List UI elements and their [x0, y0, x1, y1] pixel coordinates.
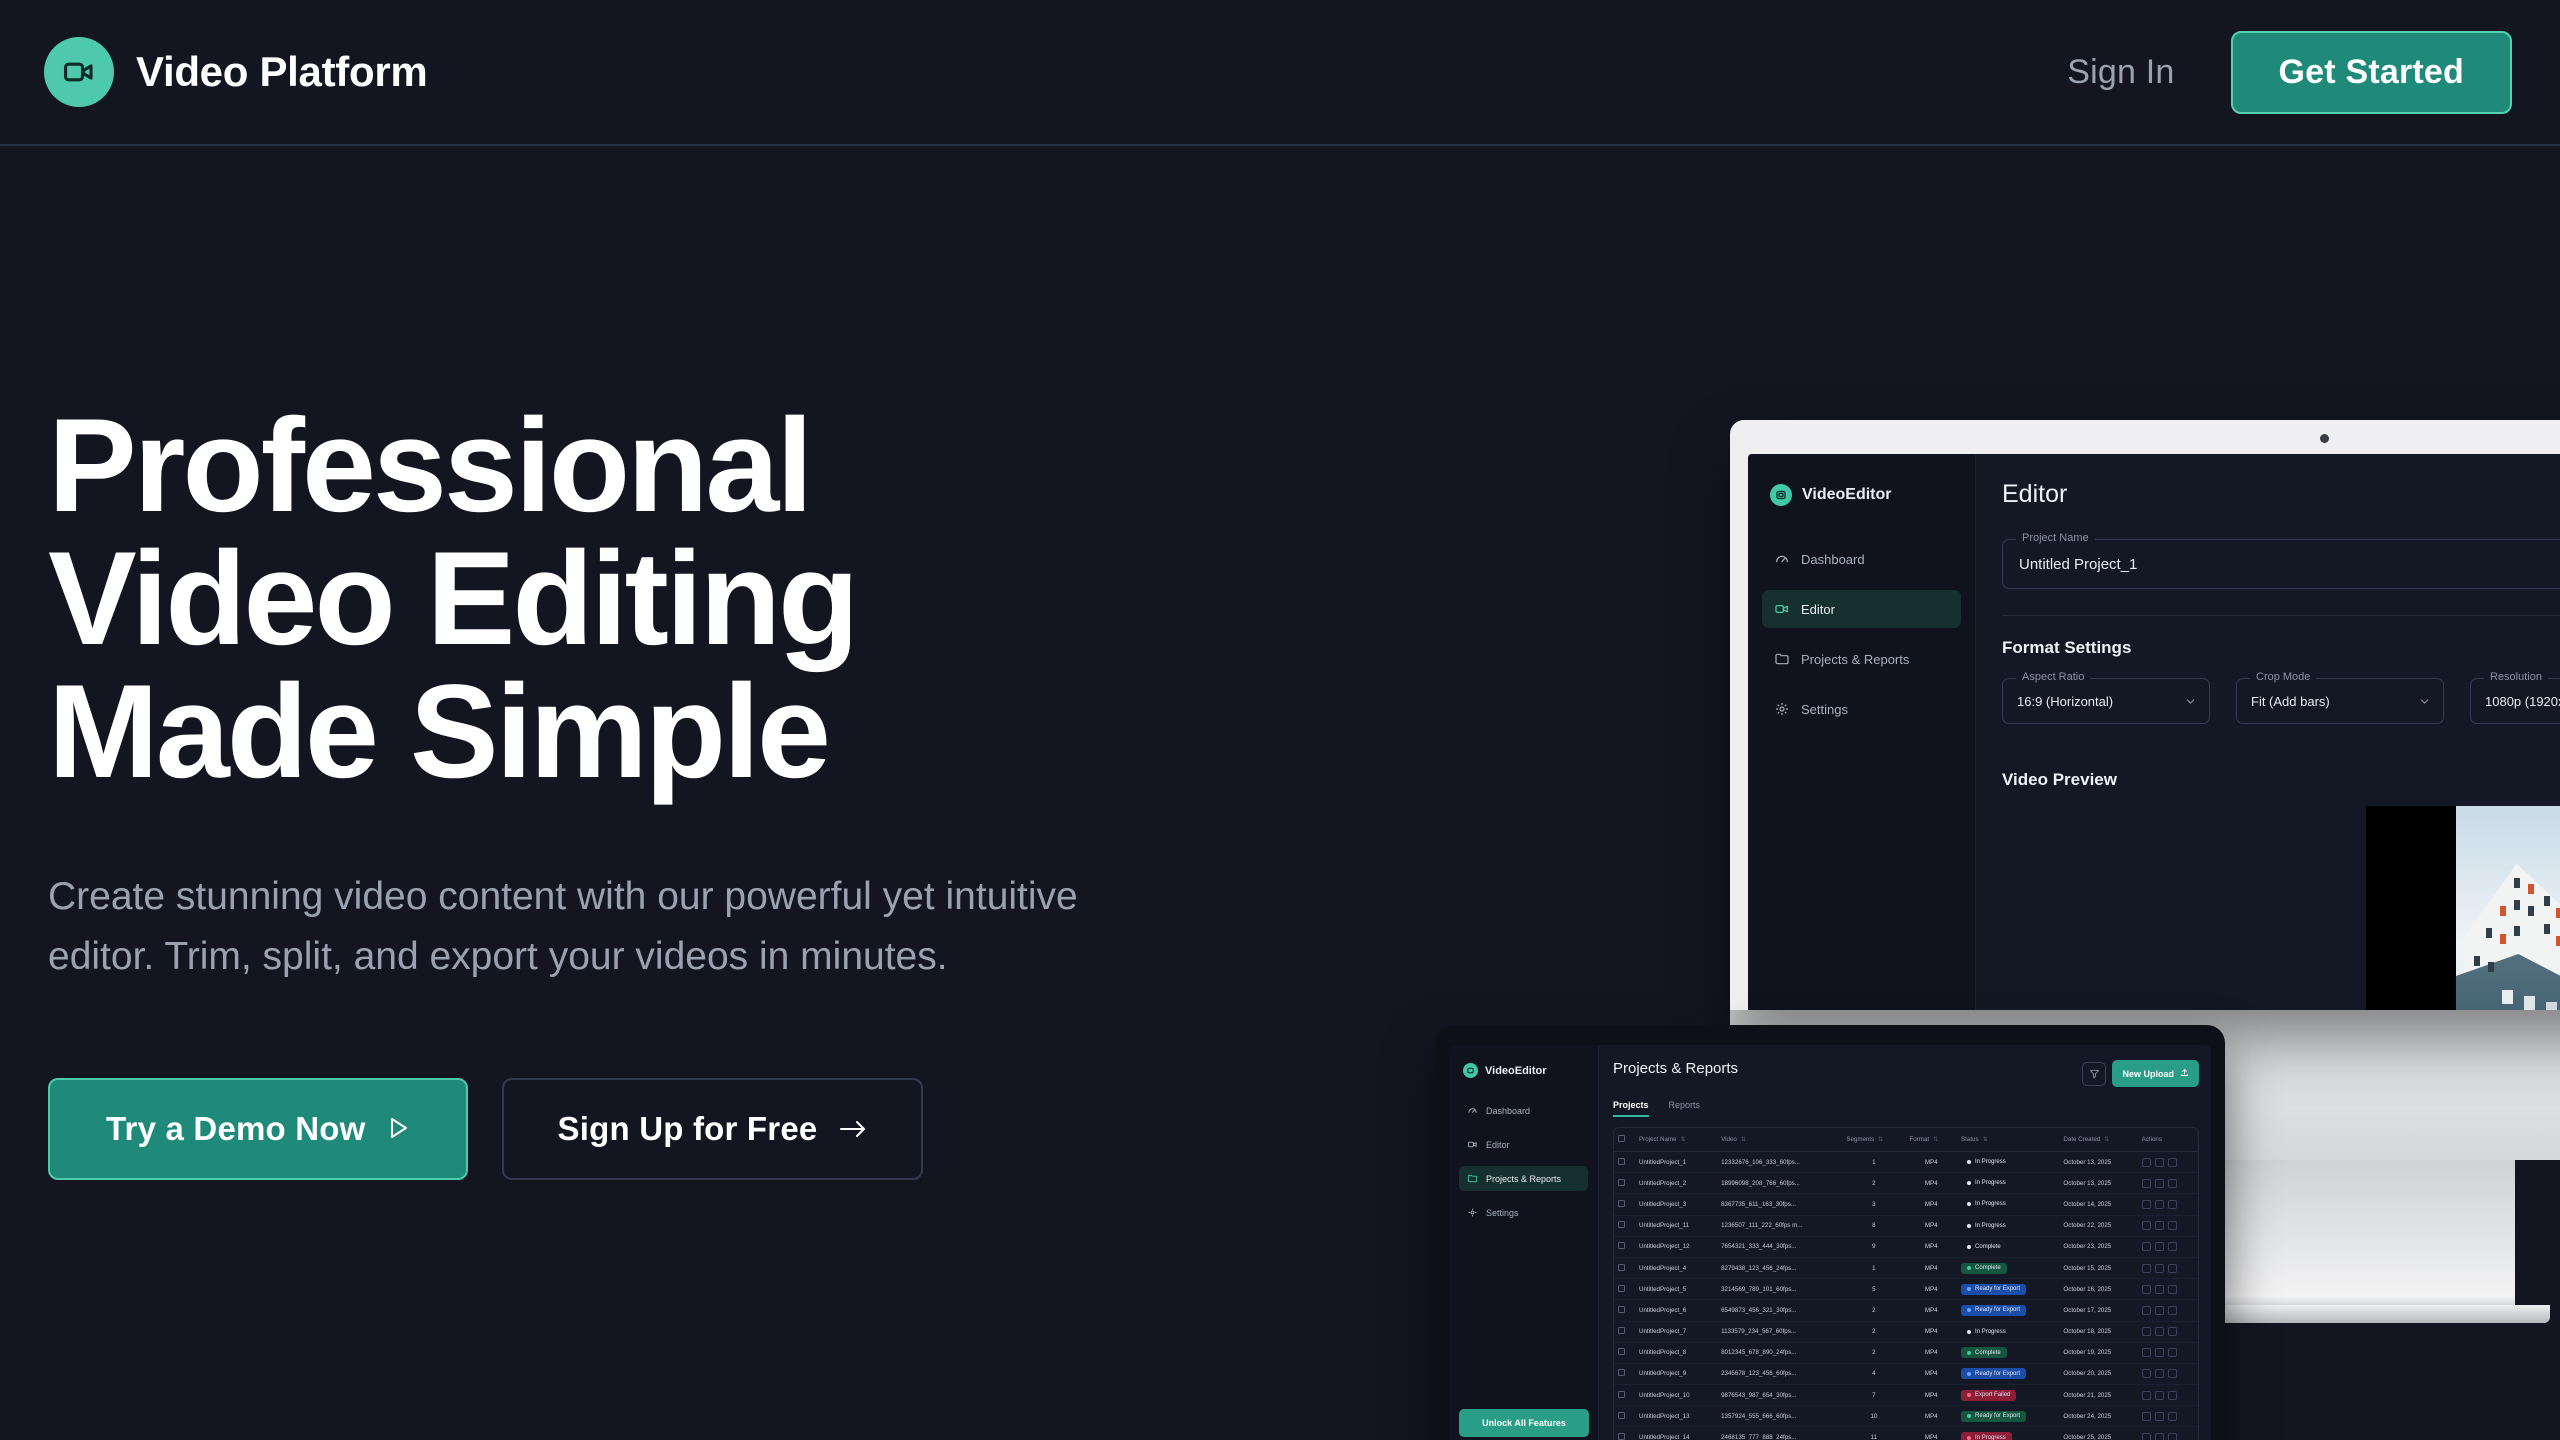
sidebar-item-settings[interactable]: Settings — [1459, 1200, 1588, 1225]
cell-actions — [2138, 1427, 2198, 1440]
col-status[interactable]: Status⇅ — [1957, 1128, 2059, 1152]
edit-icon[interactable] — [2142, 1348, 2151, 1357]
laptop-notch — [1790, 1025, 1870, 1043]
folder-icon — [1467, 1173, 1478, 1184]
resolution-label: Resolution — [2484, 671, 2548, 683]
table-row[interactable]: UntitledProject_218996098_208_766_60fps.… — [1614, 1173, 2198, 1194]
cell-actions — [2138, 1194, 2198, 1215]
table-row[interactable]: UntitledProject_109876543_987_654_30fps.… — [1614, 1385, 2198, 1406]
cell-status: In Progress — [1957, 1427, 2059, 1440]
checkbox-icon[interactable] — [1618, 1135, 1625, 1142]
sign-up-button[interactable]: Sign Up for Free — [502, 1078, 924, 1180]
edit-icon[interactable] — [2142, 1412, 2151, 1421]
sidebar-label: Settings — [1486, 1208, 1519, 1218]
device-mockup-stage: VideoEditor Dashboard Editor — [1350, 380, 2560, 1210]
cell-project-name: UntitledProject_6 — [1635, 1300, 1717, 1321]
cell-format: MP4 — [1905, 1173, 1957, 1194]
checkbox-icon[interactable] — [1618, 1412, 1625, 1419]
cell-video: 2468135_777_888_24fps... — [1717, 1427, 1842, 1440]
cell-project-name: UntitledProject_1 — [1635, 1152, 1717, 1173]
cell-video: 2345678_123_456_60fps... — [1717, 1363, 1842, 1384]
cell-actions — [2138, 1215, 2198, 1236]
divider — [2002, 615, 2560, 616]
laptop-device: VideoEditor Dashboard Editor Projects & … — [1435, 1025, 2245, 1440]
cell-project-name: UntitledProject_8 — [1635, 1342, 1717, 1363]
crop-mode-value: Fit (Add bars) — [2251, 694, 2330, 709]
download-icon[interactable] — [2155, 1242, 2164, 1251]
projects-table: Project Name⇅ Video⇅ Segments⇅ Format⇅ S… — [1614, 1128, 2198, 1440]
editor-sidebar: VideoEditor Dashboard Editor — [1748, 454, 1976, 1010]
row-checkbox[interactable] — [1614, 1300, 1635, 1321]
try-demo-label: Try a Demo Now — [106, 1110, 366, 1148]
status-badge: In Progress — [1961, 1199, 2012, 1210]
aspect-ratio-label: Aspect Ratio — [2016, 671, 2090, 683]
status-badge: In Progress — [1961, 1220, 2012, 1231]
download-icon[interactable] — [2155, 1285, 2164, 1294]
sidebar-item-settings[interactable]: Settings — [1762, 690, 1961, 728]
download-icon[interactable] — [2155, 1327, 2164, 1336]
cell-actions — [2138, 1321, 2198, 1342]
cell-video: 1357924_555_666_60fps... — [1717, 1406, 1842, 1427]
row-checkbox[interactable] — [1614, 1363, 1635, 1384]
edit-icon[interactable] — [2142, 1179, 2151, 1188]
status-badge: In Progress — [1961, 1178, 2012, 1189]
table-row[interactable]: UntitledProject_38367735_611_163_30fps..… — [1614, 1194, 2198, 1215]
cell-segments: 1 — [1842, 1257, 1905, 1278]
crop-mode-select[interactable]: Crop Mode Fit (Add bars) — [2236, 678, 2444, 724]
edit-icon[interactable] — [2142, 1264, 2151, 1273]
table-row[interactable]: UntitledProject_66549873_456_321_30fps..… — [1614, 1300, 2198, 1321]
header-actions: Sign In Get Started — [2067, 31, 2512, 114]
aspect-ratio-select[interactable]: Aspect Ratio 16:9 (Horizontal) — [2002, 678, 2210, 724]
sidebar-label: Editor — [1486, 1140, 1510, 1150]
edit-icon[interactable] — [2142, 1306, 2151, 1315]
cell-format: MP4 — [1905, 1279, 1957, 1300]
status-badge: In Progress — [1961, 1432, 2012, 1440]
get-started-button[interactable]: Get Started — [2231, 31, 2512, 114]
tab-projects[interactable]: Projects — [1613, 1100, 1649, 1117]
edit-icon[interactable] — [2142, 1200, 2151, 1209]
cell-date-created: October 23, 2025 — [2059, 1236, 2137, 1257]
download-icon[interactable] — [2155, 1369, 2164, 1378]
cell-project-name: UntitledProject_9 — [1635, 1363, 1717, 1384]
project-name-field[interactable]: Project Name Untitled Project_1 — [2002, 539, 2560, 589]
cell-format: MP4 — [1905, 1363, 1957, 1384]
table-body: UntitledProject_112332676_106_333_60fps.… — [1614, 1152, 2198, 1440]
cell-video: 9876543_987_654_30fps... — [1717, 1385, 1842, 1406]
sort-icon[interactable]: ⇅ — [1983, 1136, 1988, 1143]
cell-project-name: UntitledProject_4 — [1635, 1257, 1717, 1278]
cell-date-created: October 20, 2025 — [2059, 1363, 2137, 1384]
cell-video: 8012345_678_890_24fps... — [1717, 1342, 1842, 1363]
edit-icon[interactable] — [2142, 1158, 2151, 1167]
cell-project-name: UntitledProject_10 — [1635, 1385, 1717, 1406]
checkbox-icon[interactable] — [1618, 1369, 1625, 1376]
cell-video: 3214569_789_101_60fps... — [1717, 1279, 1842, 1300]
trash-icon[interactable] — [2168, 1391, 2177, 1400]
checkbox-icon[interactable] — [1618, 1200, 1625, 1207]
cell-project-name: UntitledProject_12 — [1635, 1236, 1717, 1257]
sort-icon[interactable]: ⇅ — [2104, 1136, 2109, 1143]
cell-status: In Progress — [1957, 1321, 2059, 1342]
status-badge: In Progress — [1961, 1157, 2012, 1168]
cell-segments: 1 — [1842, 1152, 1905, 1173]
cell-status: Complete — [1957, 1257, 2059, 1278]
cell-project-name: UntitledProject_3 — [1635, 1194, 1717, 1215]
checkbox-icon[interactable] — [1618, 1242, 1625, 1249]
sign-up-label: Sign Up for Free — [558, 1110, 818, 1148]
projects-brand-name: VideoEditor — [1485, 1065, 1547, 1077]
table-row[interactable]: UntitledProject_71133579_234_567_60fps..… — [1614, 1321, 2198, 1342]
projects-table-wrapper: Project Name⇅ Video⇅ Segments⇅ Format⇅ S… — [1613, 1127, 2199, 1440]
projects-sidebar: VideoEditor Dashboard Editor Projects & … — [1449, 1045, 1599, 1440]
table-row[interactable]: UntitledProject_48279438_123_456_24fps..… — [1614, 1257, 2198, 1278]
download-icon[interactable] — [2155, 1412, 2164, 1421]
cell-segments: 2 — [1842, 1173, 1905, 1194]
checkbox-icon[interactable] — [1618, 1391, 1625, 1398]
funnel-icon[interactable] — [2082, 1062, 2106, 1086]
table-row[interactable]: UntitledProject_131357924_555_666_60fps.… — [1614, 1406, 2198, 1427]
cell-status: Ready for Export — [1957, 1363, 2059, 1384]
download-icon[interactable] — [2155, 1264, 2164, 1273]
checkbox-icon[interactable] — [1618, 1306, 1625, 1313]
trash-icon[interactable] — [2168, 1433, 2177, 1440]
cell-video: 12332676_106_333_60fps... — [1717, 1152, 1842, 1173]
cell-status: In Progress — [1957, 1152, 2059, 1173]
crop-mode-label: Crop Mode — [2250, 671, 2316, 683]
sidebar-item-editor[interactable]: Editor — [1459, 1132, 1588, 1157]
cell-actions — [2138, 1342, 2198, 1363]
trash-icon[interactable] — [2168, 1264, 2177, 1273]
row-checkbox[interactable] — [1614, 1257, 1635, 1278]
video-frame-image — [2456, 806, 2560, 1010]
sidebar-label: Dashboard — [1801, 552, 1865, 567]
cell-project-name: UntitledProject_11 — [1635, 1215, 1717, 1236]
cell-date-created: October 19, 2025 — [2059, 1342, 2137, 1363]
cell-format: MP4 — [1905, 1257, 1957, 1278]
sign-in-link[interactable]: Sign In — [2067, 53, 2174, 92]
cell-segments: 8 — [1842, 1215, 1905, 1236]
status-badge: In Progress — [1961, 1326, 2012, 1337]
sidebar-item-editor[interactable]: Editor — [1762, 590, 1961, 628]
cell-date-created: October 14, 2025 — [2059, 1194, 2137, 1215]
video-player[interactable] — [2366, 806, 2560, 1010]
trash-icon[interactable] — [2168, 1348, 2177, 1357]
chevron-down-icon — [2418, 695, 2431, 713]
brand-logo[interactable]: Video Platform — [44, 37, 427, 107]
arrow-right-icon — [839, 1110, 867, 1148]
col-actions: Actions — [2138, 1128, 2198, 1152]
resolution-value: 1080p (1920x1080) — [2485, 694, 2560, 709]
checkbox-icon[interactable] — [1618, 1433, 1625, 1440]
video-preview-title: Video Preview — [2002, 770, 2117, 790]
gear-icon — [1467, 1207, 1478, 1218]
editor-brand: VideoEditor — [1770, 484, 1961, 506]
cell-date-created: October 24, 2025 — [2059, 1406, 2137, 1427]
trash-icon[interactable] — [2168, 1306, 2177, 1315]
status-badge: Ready for Export — [1961, 1284, 2026, 1295]
row-checkbox[interactable] — [1614, 1173, 1635, 1194]
video-camera-icon — [1774, 601, 1790, 617]
cell-status: Ready for Export — [1957, 1279, 2059, 1300]
chevron-down-icon — [2184, 695, 2197, 713]
col-project-name[interactable]: Project Name⇅ — [1635, 1128, 1717, 1152]
cell-date-created: October 25, 2025 — [2059, 1427, 2137, 1440]
cell-date-created: October 21, 2025 — [2059, 1385, 2137, 1406]
cell-date-created: October 13, 2025 — [2059, 1173, 2137, 1194]
download-icon[interactable] — [2155, 1158, 2164, 1167]
cell-format: MP4 — [1905, 1300, 1957, 1321]
row-checkbox[interactable] — [1614, 1236, 1635, 1257]
tab-reports[interactable]: Reports — [1669, 1100, 1701, 1117]
cell-project-name: UntitledProject_2 — [1635, 1173, 1717, 1194]
cell-date-created: October 15, 2025 — [2059, 1257, 2137, 1278]
download-icon[interactable] — [2155, 1391, 2164, 1400]
cell-actions — [2138, 1406, 2198, 1427]
download-icon[interactable] — [2155, 1433, 2164, 1440]
cell-actions — [2138, 1300, 2198, 1321]
sidebar-item-projects-reports[interactable]: Projects & Reports — [1459, 1166, 1588, 1191]
cell-actions — [2138, 1152, 2198, 1173]
trash-icon[interactable] — [2168, 1179, 2177, 1188]
brand-name: Video Platform — [136, 48, 427, 96]
video-camera-icon — [1463, 1063, 1478, 1078]
col-segments[interactable]: Segments⇅ — [1842, 1128, 1905, 1152]
row-checkbox[interactable] — [1614, 1406, 1635, 1427]
cell-segments: 2 — [1842, 1321, 1905, 1342]
checkbox-icon[interactable] — [1618, 1348, 1625, 1355]
table-row[interactable]: UntitledProject_142468135_777_888_24fps.… — [1614, 1427, 2198, 1440]
download-icon[interactable] — [2155, 1306, 2164, 1315]
edit-icon[interactable] — [2142, 1221, 2151, 1230]
sidebar-label: Editor — [1801, 602, 1835, 617]
cell-status: Ready for Export — [1957, 1406, 2059, 1427]
cell-actions — [2138, 1236, 2198, 1257]
cell-actions — [2138, 1279, 2198, 1300]
cell-status: Export Failed — [1957, 1385, 2059, 1406]
status-badge: Ready for Export — [1961, 1305, 2026, 1316]
cell-format: MP4 — [1905, 1152, 1957, 1173]
page-title: Professional Video Editing Made Simple — [48, 400, 1148, 799]
format-settings-selects: Aspect Ratio 16:9 (Horizontal) Crop Mode… — [2002, 678, 2560, 728]
laptop-lid: VideoEditor Dashboard Editor Projects & … — [1435, 1025, 2225, 1440]
cell-actions — [2138, 1257, 2198, 1278]
video-camera-icon — [1467, 1139, 1478, 1150]
gauge-icon — [1467, 1105, 1478, 1116]
trash-icon[interactable] — [2168, 1412, 2177, 1421]
cell-status: In Progress — [1957, 1173, 2059, 1194]
cell-segments: 9 — [1842, 1236, 1905, 1257]
sidebar-item-dashboard[interactable]: Dashboard — [1762, 540, 1961, 578]
cell-segments: 4 — [1842, 1363, 1905, 1384]
editor-page-title: Editor — [2002, 480, 2067, 509]
cell-format: MP4 — [1905, 1406, 1957, 1427]
edit-icon[interactable] — [2142, 1369, 2151, 1378]
cell-format: MP4 — [1905, 1215, 1957, 1236]
row-checkbox[interactable] — [1614, 1194, 1635, 1215]
trash-icon[interactable] — [2168, 1242, 2177, 1251]
hero-subtitle: Create stunning video content with our p… — [48, 867, 1138, 988]
cell-date-created: October 13, 2025 — [2059, 1152, 2137, 1173]
projects-brand: VideoEditor — [1463, 1063, 1588, 1078]
checkbox-icon[interactable] — [1618, 1179, 1625, 1186]
editor-brand-name: VideoEditor — [1802, 486, 1892, 504]
table-header-row: Project Name⇅ Video⇅ Segments⇅ Format⇅ S… — [1614, 1128, 2198, 1152]
sidebar-item-projects-reports[interactable]: Projects & Reports — [1762, 640, 1961, 678]
cell-project-name: UntitledProject_14 — [1635, 1427, 1717, 1440]
editor-topbar: Editor Save Exp — [2002, 480, 2560, 509]
edit-icon[interactable] — [2142, 1285, 2151, 1294]
checkbox-icon[interactable] — [1618, 1158, 1625, 1165]
download-icon[interactable] — [2155, 1348, 2164, 1357]
projects-main: Projects & Reports New Upload — [1599, 1045, 2211, 1440]
edit-icon[interactable] — [2142, 1391, 2151, 1400]
table-row[interactable]: UntitledProject_127654321_333_444_30fps.… — [1614, 1236, 2198, 1257]
resolution-select[interactable]: Resolution 1080p (1920x1080) — [2470, 678, 2560, 724]
cell-project-name: UntitledProject_13 — [1635, 1406, 1717, 1427]
cell-video: 8279438_123_456_24fps... — [1717, 1257, 1842, 1278]
cell-status: Ready for Export — [1957, 1300, 2059, 1321]
table-row[interactable]: UntitledProject_92345678_123_456_60fps..… — [1614, 1363, 2198, 1384]
row-checkbox[interactable] — [1614, 1427, 1635, 1440]
video-camera-icon — [44, 37, 114, 107]
cell-video: 1133579_234_567_60fps... — [1717, 1321, 1842, 1342]
cell-segments: 5 — [1842, 1279, 1905, 1300]
site-header: Video Platform Sign In Get Started — [0, 0, 2560, 146]
status-badge: Complete — [1961, 1263, 2007, 1274]
download-icon[interactable] — [2155, 1179, 2164, 1188]
cell-format: MP4 — [1905, 1385, 1957, 1406]
cell-format: MP4 — [1905, 1342, 1957, 1363]
row-checkbox[interactable] — [1614, 1385, 1635, 1406]
project-name-label: Project Name — [2016, 532, 2095, 544]
new-upload-button[interactable]: New Upload — [2112, 1060, 2199, 1087]
cell-status: In Progress — [1957, 1194, 2059, 1215]
folder-icon — [1774, 651, 1790, 667]
sidebar-label: Projects & Reports — [1801, 652, 1909, 667]
cell-video: 18996098_208_766_60fps... — [1717, 1173, 1842, 1194]
download-icon[interactable] — [2155, 1221, 2164, 1230]
cell-date-created: October 16, 2025 — [2059, 1279, 2137, 1300]
trash-icon[interactable] — [2168, 1200, 2177, 1209]
cell-video: 6549873_456_321_30fps... — [1717, 1300, 1842, 1321]
cell-actions — [2138, 1385, 2198, 1406]
aspect-ratio-value: 16:9 (Horizontal) — [2017, 694, 2113, 709]
sidebar-label: Projects & Reports — [1486, 1174, 1561, 1184]
status-badge: Ready for Export — [1961, 1368, 2026, 1379]
edit-icon[interactable] — [2142, 1433, 2151, 1440]
cell-format: MP4 — [1905, 1427, 1957, 1440]
unlock-all-features-button[interactable]: Unlock All Features — [1459, 1409, 1589, 1437]
gauge-icon — [1774, 551, 1790, 567]
cell-project-name: UntitledProject_7 — [1635, 1321, 1717, 1342]
monitor-camera-icon — [2320, 434, 2329, 443]
cell-actions — [2138, 1363, 2198, 1384]
cell-status: Complete — [1957, 1342, 2059, 1363]
monitor-screen: VideoEditor Dashboard Editor — [1748, 454, 2560, 1010]
checkbox-icon[interactable] — [1618, 1327, 1625, 1334]
checkbox-icon[interactable] — [1618, 1285, 1625, 1292]
col-date-created[interactable]: Date Created⇅ — [2059, 1128, 2137, 1152]
row-checkbox[interactable] — [1614, 1215, 1635, 1236]
desktop-monitor: VideoEditor Dashboard Editor — [1730, 420, 2560, 1010]
cell-segments: 3 — [1842, 1194, 1905, 1215]
status-badge: Ready for Export — [1961, 1411, 2026, 1422]
trash-icon[interactable] — [2168, 1221, 2177, 1230]
projects-page-title: Projects & Reports — [1613, 1060, 1738, 1077]
format-settings-title: Format Settings — [2002, 638, 2560, 658]
sidebar-item-dashboard[interactable]: Dashboard — [1459, 1098, 1588, 1123]
cell-segments: 2 — [1842, 1300, 1905, 1321]
cell-status: Complete — [1957, 1236, 2059, 1257]
sidebar-label: Dashboard — [1486, 1106, 1530, 1116]
cell-project-name: UntitledProject_5 — [1635, 1279, 1717, 1300]
trash-icon[interactable] — [2168, 1285, 2177, 1294]
edit-icon[interactable] — [2142, 1327, 2151, 1336]
cell-video: 7654321_333_444_30fps... — [1717, 1236, 1842, 1257]
cell-video: 8367735_611_163_30fps... — [1717, 1194, 1842, 1215]
cell-segments: 10 — [1842, 1406, 1905, 1427]
sort-icon[interactable]: ⇅ — [1681, 1136, 1686, 1143]
trash-icon[interactable] — [2168, 1327, 2177, 1336]
status-badge: Complete — [1961, 1241, 2007, 1252]
col-video[interactable]: Video⇅ — [1717, 1128, 1842, 1152]
play-triangle-icon — [388, 1110, 410, 1148]
row-checkbox[interactable] — [1614, 1321, 1635, 1342]
download-icon[interactable] — [2155, 1200, 2164, 1209]
status-badge: Export Failed — [1961, 1390, 2016, 1401]
row-checkbox[interactable] — [1614, 1152, 1635, 1173]
video-camera-icon — [1770, 484, 1792, 506]
col-format[interactable]: Format⇅ — [1905, 1128, 1957, 1152]
table-row[interactable]: UntitledProject_88012345_678_890_24fps..… — [1614, 1342, 2198, 1363]
sort-icon[interactable]: ⇅ — [1741, 1136, 1746, 1143]
table-row[interactable]: UntitledProject_111236507_111_222_60fps … — [1614, 1215, 2198, 1236]
project-name-value: Untitled Project_1 — [2019, 556, 2137, 573]
checkbox-icon[interactable] — [1618, 1264, 1625, 1271]
hero-section: Professional Video Editing Made Simple C… — [48, 400, 1148, 1180]
projects-top-actions: New Upload — [2082, 1060, 2199, 1087]
cell-date-created: October 22, 2025 — [2059, 1215, 2137, 1236]
edit-icon[interactable] — [2142, 1242, 2151, 1251]
cell-actions — [2138, 1173, 2198, 1194]
trash-icon[interactable] — [2168, 1158, 2177, 1167]
row-checkbox[interactable] — [1614, 1279, 1635, 1300]
col-select-all[interactable] — [1614, 1128, 1635, 1152]
cell-segments: 11 — [1842, 1427, 1905, 1440]
upload-icon — [2180, 1068, 2189, 1079]
trash-icon[interactable] — [2168, 1369, 2177, 1378]
table-row[interactable]: UntitledProject_53214569_789_101_60fps..… — [1614, 1279, 2198, 1300]
cell-segments: 7 — [1842, 1385, 1905, 1406]
status-badge: Complete — [1961, 1347, 2007, 1358]
row-checkbox[interactable] — [1614, 1342, 1635, 1363]
table-row[interactable]: UntitledProject_112332676_106_333_60fps.… — [1614, 1152, 2198, 1173]
checkbox-icon[interactable] — [1618, 1221, 1625, 1228]
cell-format: MP4 — [1905, 1321, 1957, 1342]
cell-video: 1236507_111_222_60fps m... — [1717, 1215, 1842, 1236]
cell-date-created: October 17, 2025 — [2059, 1300, 2137, 1321]
editor-main: Editor Save Exp Project Name Untitled Pr — [1976, 454, 2560, 1010]
try-demo-button[interactable]: Try a Demo Now — [48, 1078, 468, 1180]
cell-status: In Progress — [1957, 1215, 2059, 1236]
cell-segments: 2 — [1842, 1342, 1905, 1363]
sidebar-label: Settings — [1801, 702, 1848, 717]
hero-actions: Try a Demo Now Sign Up for Free — [48, 1078, 1148, 1180]
sort-icon[interactable]: ⇅ — [1878, 1136, 1883, 1143]
new-upload-label: New Upload — [2122, 1069, 2174, 1079]
sort-icon[interactable]: ⇅ — [1933, 1136, 1938, 1143]
